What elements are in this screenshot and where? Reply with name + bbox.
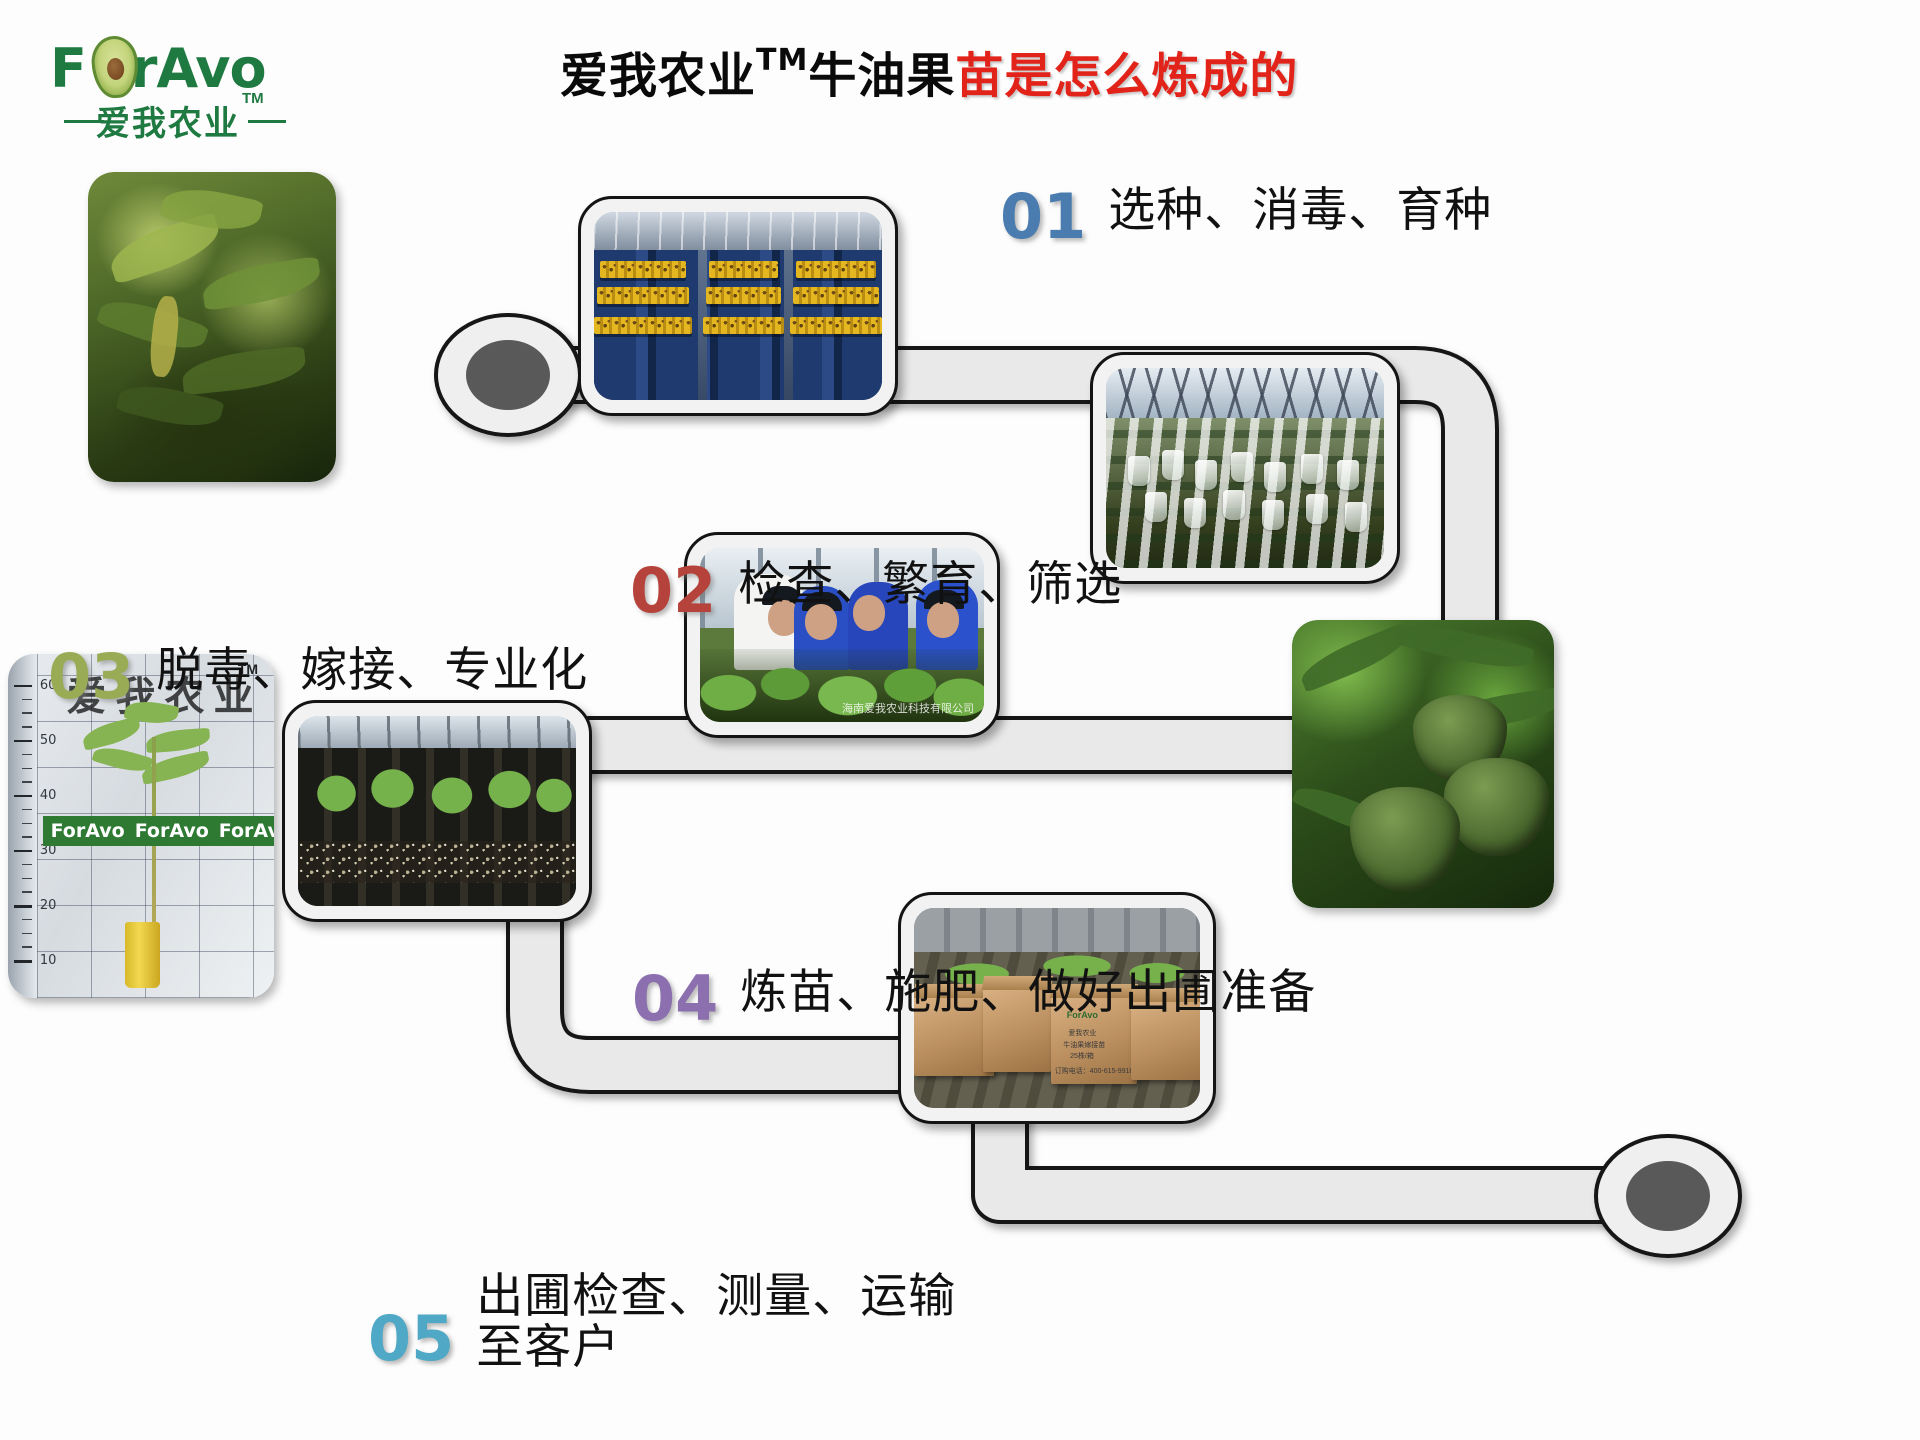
strip-word-2: ForAvo xyxy=(135,820,209,842)
ruler-tick-40: 40 xyxy=(40,788,57,803)
logo-chinese-name: 爱我农业 xyxy=(96,96,240,145)
ruler-tick-20: 20 xyxy=(40,898,57,913)
ruler-pot xyxy=(125,922,160,987)
strip-word-1: ForAvo xyxy=(51,820,125,842)
infographic-canvas: FOrAvo 爱我农业 TM 爱我农业TM牛油果苗是怎么炼成的 xyxy=(0,0,1920,1440)
bags-scene xyxy=(1106,368,1384,568)
page-title: 爱我农业TM牛油果苗是怎么炼成的 xyxy=(560,44,1298,103)
step-03-number: 03 xyxy=(48,646,134,708)
ruler-brand-strip: ForAvo ForAvo ForAvo ForAvo xyxy=(43,816,274,846)
box-spec-label: 25株/箱 xyxy=(1070,1051,1094,1061)
ruler-tick-10: 10 xyxy=(40,953,57,968)
step-05-line2: 至客户 xyxy=(476,1323,956,1374)
logo-rule-right xyxy=(248,120,286,123)
title-part-black: 爱我农业 xyxy=(560,48,756,104)
step-05: 05 出圃检查、测量、运输 至客户 xyxy=(368,1272,956,1374)
step-01-number: 01 xyxy=(1000,186,1086,248)
connector-start-knob xyxy=(436,315,580,435)
step-03-text: 脱毒、嫁接、专业化 xyxy=(156,646,588,697)
photo-bags xyxy=(1106,368,1384,568)
photo-card-bags[interactable] xyxy=(1090,352,1400,584)
photo-card-flower[interactable] xyxy=(88,172,336,482)
logo-wordmark: FOrAvo xyxy=(50,42,266,96)
connector-end-knob xyxy=(1596,1136,1740,1256)
title-tm-mark: TM xyxy=(756,43,808,78)
box-sub-label: 牛油果嫁接苗 xyxy=(1063,1040,1105,1050)
photo-watermark: 海南爱我农业科技有限公司 xyxy=(842,700,974,716)
trays-scene xyxy=(594,212,882,400)
ruler-tick-50: 50 xyxy=(40,733,57,748)
title-part-black2: 牛油果 xyxy=(808,48,955,104)
step-02-number: 02 xyxy=(630,560,716,622)
ruler-rail xyxy=(8,654,37,998)
photo-trays xyxy=(594,212,882,400)
step-02-text: 检查、繁育、筛选 xyxy=(738,560,1122,611)
step-05-text: 出圃检查、测量、运输 至客户 xyxy=(476,1272,956,1374)
step-02: 02 检查、繁育、筛选 xyxy=(630,560,1122,622)
step-05-line1: 出圃检查、测量、运输 xyxy=(476,1269,956,1324)
title-part-red: 苗是怎么炼成的 xyxy=(955,48,1298,104)
photo-card-fruit[interactable] xyxy=(1292,620,1554,908)
brand-logo: FOrAvo 爱我农业 TM xyxy=(44,32,324,142)
strip-word-3: ForAvo xyxy=(219,820,274,842)
step-01: 01 选种、消毒、育种 xyxy=(1000,186,1492,248)
step-04: 04 炼苗、施肥、做好出圃准备 xyxy=(632,968,1316,1030)
fruit-scene xyxy=(1292,620,1554,908)
step-05-number: 05 xyxy=(368,1308,454,1370)
step-04-text: 炼苗、施肥、做好出圃准备 xyxy=(740,968,1316,1019)
photo-fruit xyxy=(1292,620,1554,908)
photo-card-pots[interactable] xyxy=(282,700,592,922)
box-phone-label: 订购电话：400-615-9918 xyxy=(1055,1066,1134,1076)
connector-start-dot xyxy=(466,340,550,410)
photo-card-trays[interactable] xyxy=(578,196,898,416)
photo-flower xyxy=(88,172,336,482)
pots-scene xyxy=(298,716,576,906)
photo-pots xyxy=(298,716,576,906)
logo-tm-mark: TM xyxy=(242,90,264,107)
step-01-text: 选种、消毒、育种 xyxy=(1108,186,1492,237)
step-04-number: 04 xyxy=(632,968,718,1030)
flower-scene xyxy=(88,172,336,482)
connector-end-dot xyxy=(1626,1161,1710,1231)
step-03: 03 脱毒、嫁接、专业化 xyxy=(48,646,588,708)
